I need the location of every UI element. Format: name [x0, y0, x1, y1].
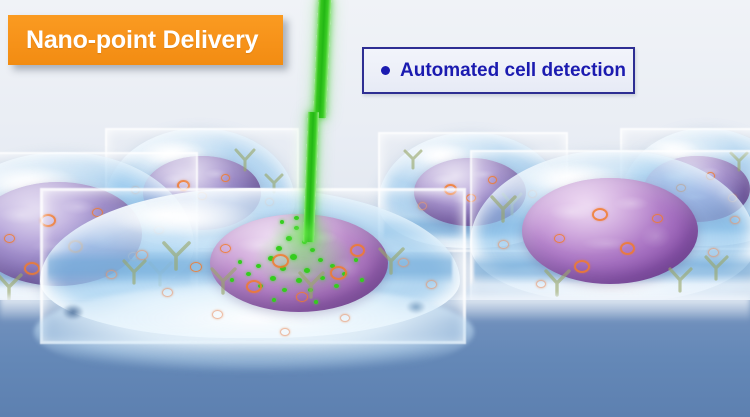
scene-canvas: Nano-point Delivery Automated cell detec…	[0, 0, 750, 417]
beam-entry-glow	[272, 212, 334, 256]
callout-label: Automated cell detection	[400, 60, 626, 82]
title-chip-nano-point-delivery[interactable]: Nano-point Delivery	[8, 15, 283, 65]
bullet-dot-icon	[381, 66, 390, 75]
title-chip-label: Nano-point Delivery	[8, 26, 258, 55]
callout-automated-cell-detection[interactable]: Automated cell detection	[362, 47, 635, 94]
laser-beam-upper	[313, 0, 332, 118]
